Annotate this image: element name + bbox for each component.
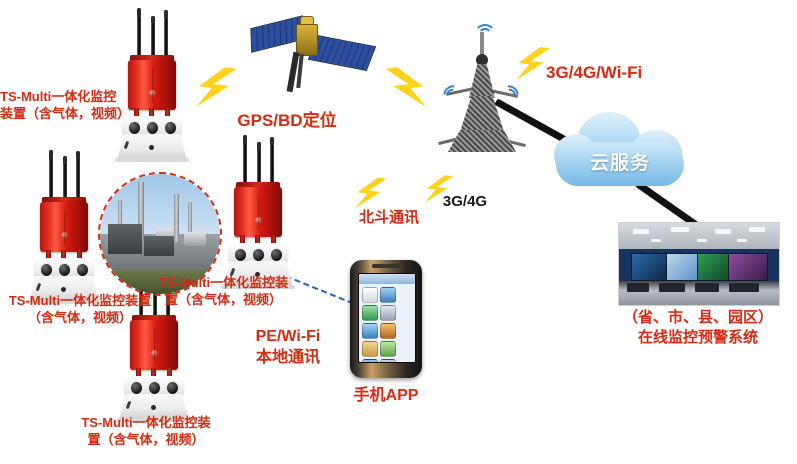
control-room-photo [618,222,780,306]
label-device-mid-left: TS-Multi一体化监控装置 （含气体，视频） [0,292,160,326]
antenna-icon [243,135,247,189]
app-grid [362,287,412,363]
antenna-icon [137,8,141,62]
label-local-comm: PE/Wi-Fi 本地通讯 [232,326,344,368]
cloud-label: 云服务 [552,148,688,175]
app-icon[interactable] [380,359,396,363]
device-body [130,320,178,370]
lightning-bolt-icon [186,66,244,114]
satellite-icon [250,12,378,104]
device-body [40,202,88,252]
label-3g4g: 3G/4G [434,192,496,212]
app-icon[interactable] [362,341,378,357]
wifi-signal-icon [472,18,494,32]
status-bar [359,274,415,284]
antenna-icon [49,150,53,204]
cell-tower-icon [428,18,536,158]
tablet-screen[interactable] [358,273,416,363]
app-icon[interactable] [380,341,396,357]
app-icon[interactable] [362,323,378,339]
device-center [210,135,306,285]
device-foot [115,158,189,162]
lightning-bolt-icon [378,66,436,114]
wifi-signal-icon [435,79,461,104]
label-device-bottom-left: TS-Multi一体化监控装 置（含气体，视频） [72,414,220,448]
app-icon[interactable] [380,323,396,339]
app-icon[interactable] [380,287,396,303]
device-base [117,134,187,160]
app-icon[interactable] [362,287,378,303]
label-3g4g-wifi: 3G/4G/Wi-Fi [546,62,676,84]
app-icon[interactable] [362,359,378,363]
app-icon[interactable] [380,305,396,321]
label-beidou: 北斗通讯 [348,208,430,228]
label-control-room: （省、市、县、园区） 在线监控预警系统 [600,308,796,348]
label-device-top-left: TS-Multi一体化监控 装置（含气体，视频） [0,88,150,122]
cloud-service-node: 云服务 [552,108,688,190]
label-mobile-app: 手机APP [350,385,422,406]
label-gps-bd: GPS/BD定位 [222,110,352,132]
diagram-canvas: 云服务 [0,0,797,464]
app-icon[interactable] [362,305,378,321]
device-body [234,187,282,237]
mobile-tablet-device[interactable] [350,260,422,378]
speaker-grille [372,264,400,268]
label-device-center: TS-Multi一体化监控装 置（含气体，视频） [156,274,291,308]
